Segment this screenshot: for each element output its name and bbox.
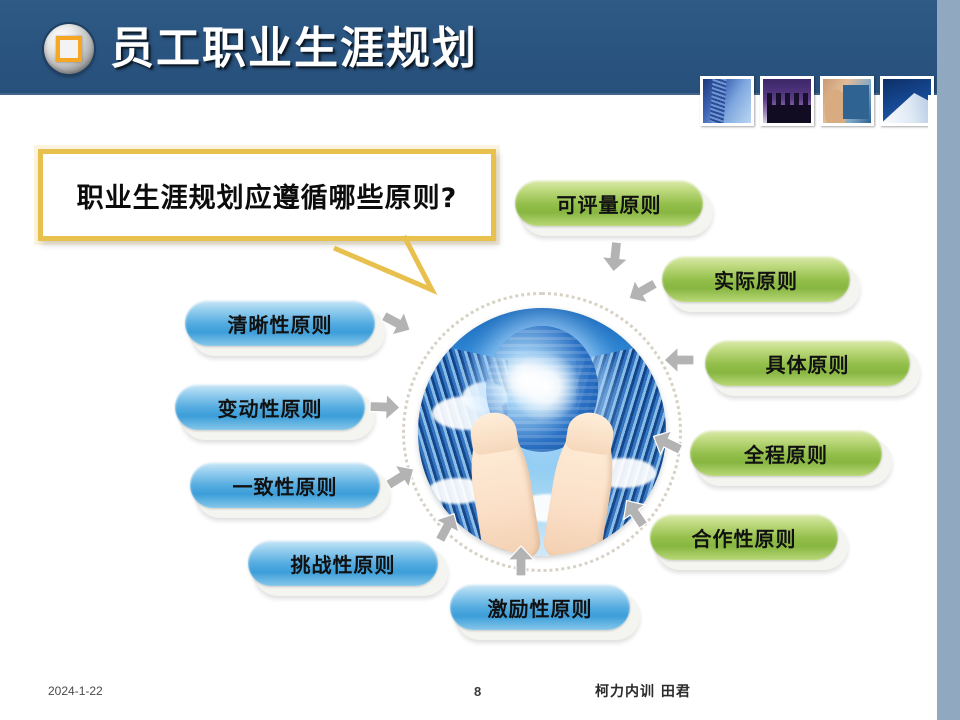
page-title: 员工职业生涯规划: [110, 12, 478, 76]
principle-pill-right-4[interactable]: 合作性原则: [650, 514, 838, 560]
principle-pill-right-1[interactable]: 实际原则: [662, 256, 850, 302]
principle-label: 合作性原则: [692, 523, 797, 552]
footer-author: 柯力内训 田君: [595, 681, 691, 701]
slide-canvas: 员工职业生涯规划 职业生涯规划应遵循哪些原则? 清晰性原则变: [0, 0, 960, 720]
principle-label: 实际原则: [714, 265, 798, 294]
person-on-phone-photo: [820, 76, 874, 126]
principle-label: 清晰性原则: [228, 309, 333, 338]
principle-label: 具体原则: [766, 349, 850, 378]
right-accent-band: [937, 0, 960, 720]
night-cityscape-photo: [760, 76, 814, 126]
arrow-icon-left-4: [506, 544, 536, 578]
white-architecture-photo: [880, 76, 934, 126]
principle-pill-left-2[interactable]: 一致性原则: [190, 462, 380, 508]
arrow-icon-right-2: [662, 345, 696, 375]
footer-page-number: 8: [474, 684, 481, 699]
question-callout: 职业生涯规划应遵循哪些原则?: [38, 149, 496, 241]
principle-label: 激励性原则: [488, 593, 593, 622]
arrow-icon-left-1: [367, 391, 402, 422]
principle-label: 可评量原则: [557, 189, 662, 218]
arrow-icon-right-0: [598, 239, 631, 276]
logo-inner-square: [56, 36, 82, 62]
principle-label: 变动性原则: [218, 393, 323, 422]
principle-label: 全程原则: [744, 439, 828, 468]
rounded-square-logo-icon: [44, 24, 94, 74]
principle-pill-left-3[interactable]: 挑战性原则: [248, 540, 438, 586]
question-callout-text: 职业生涯规划应遵循哪些原则?: [77, 176, 458, 215]
principle-label: 挑战性原则: [291, 549, 396, 578]
header-photo-strip: [700, 76, 934, 126]
principle-pill-right-3[interactable]: 全程原则: [690, 430, 882, 476]
footer-date: 2024-1-22: [48, 684, 103, 698]
principle-label: 一致性原则: [233, 471, 338, 500]
right-band-inner: [928, 95, 937, 720]
blue-glass-tower-photo: [700, 76, 754, 126]
principle-pill-right-2[interactable]: 具体原则: [705, 340, 910, 386]
principle-pill-left-1[interactable]: 变动性原则: [175, 384, 365, 430]
principle-pill-left-0[interactable]: 清晰性原则: [185, 300, 375, 346]
principle-pill-right-0[interactable]: 可评量原则: [515, 180, 703, 226]
principle-pill-left-4[interactable]: 激励性原则: [450, 584, 630, 630]
